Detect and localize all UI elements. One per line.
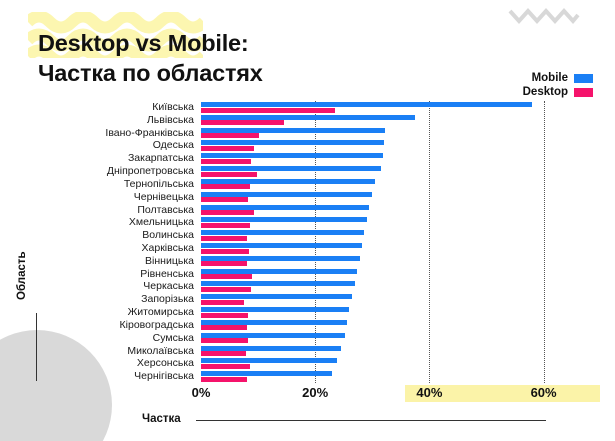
bar-mobile (201, 256, 360, 261)
bar-group (201, 165, 555, 178)
page-title: Desktop vs Mobile: Частка по областях (38, 28, 468, 88)
x-tick-label: 0% (192, 385, 211, 400)
bar-group (201, 139, 555, 152)
chart-page: Desktop vs Mobile: Частка по областях Mo… (0, 0, 615, 441)
bar-desktop (201, 108, 335, 113)
legend-item-mobile: Mobile (532, 72, 593, 84)
category-label: Тернопільська (60, 179, 194, 190)
category-label: Київська (60, 102, 194, 113)
bar-desktop (201, 223, 250, 228)
category-label: Чернігівська (60, 371, 194, 382)
category-label: Херсонська (60, 358, 194, 369)
category-label: Запорізька (60, 294, 194, 305)
category-label: Миколаївська (60, 346, 194, 357)
bar-group (201, 204, 555, 217)
bar-mobile (201, 346, 341, 351)
category-label: Черкаська (60, 281, 194, 292)
bar-group (201, 101, 555, 114)
bar-mobile (201, 281, 355, 286)
bar-group (201, 242, 555, 255)
chart-legend: Mobile Desktop (523, 72, 593, 98)
legend-swatch-mobile (574, 74, 593, 83)
bar-group (201, 332, 555, 345)
bar-mobile (201, 320, 347, 325)
bar-desktop (201, 146, 254, 151)
category-label: Харківська (60, 243, 194, 254)
category-label: Кіровоградська (60, 320, 194, 331)
bar-mobile (201, 179, 375, 184)
bar-desktop (201, 325, 247, 330)
bar-mobile (201, 153, 383, 158)
category-label: Одеська (60, 140, 194, 151)
bar-group (201, 127, 555, 140)
y-axis-line (36, 313, 37, 381)
x-axis-title: Частка (142, 413, 181, 425)
bar-mobile (201, 333, 345, 338)
gray-zigzag-decoration (508, 6, 580, 26)
bar-mobile (201, 192, 372, 197)
bar-group (201, 268, 555, 281)
legend-item-desktop: Desktop (523, 86, 593, 98)
bar-group (201, 255, 555, 268)
bar-mobile (201, 205, 369, 210)
legend-label-mobile: Mobile (532, 72, 568, 84)
category-label: Хмельницька (60, 217, 194, 228)
bar-group (201, 178, 555, 191)
bar-mobile (201, 102, 532, 107)
bar-mobile (201, 128, 385, 133)
bar-mobile (201, 140, 384, 145)
bar-group (201, 152, 555, 165)
bar-mobile (201, 230, 364, 235)
x-tick-label: 40% (416, 385, 442, 400)
bar-group (201, 191, 555, 204)
category-label: Полтавська (60, 205, 194, 216)
category-label: Закарпатська (60, 153, 194, 164)
legend-swatch-desktop (574, 88, 593, 97)
bar-group (201, 114, 555, 127)
bar-desktop (201, 133, 259, 138)
bar-mobile (201, 307, 349, 312)
bar-mobile (201, 371, 332, 376)
y-axis-title: Область (16, 251, 28, 300)
bar-desktop (201, 184, 250, 189)
category-label: Вінницька (60, 256, 194, 267)
bar-desktop (201, 377, 247, 382)
bar-group (201, 229, 555, 242)
x-axis-line (196, 420, 546, 421)
bar-desktop (201, 210, 254, 215)
bar-mobile (201, 294, 352, 299)
bar-mobile (201, 217, 367, 222)
chart-plot-area (201, 101, 555, 383)
bar-group (201, 280, 555, 293)
category-label: Львівська (60, 115, 194, 126)
bar-desktop (201, 287, 251, 292)
bar-desktop (201, 364, 250, 369)
category-label: Сумська (60, 333, 194, 344)
category-label: Дніпропетровська (60, 166, 194, 177)
x-tick-label: 60% (531, 385, 557, 400)
bar-group (201, 293, 555, 306)
bar-mobile (201, 358, 337, 363)
category-label: Рівненська (60, 269, 194, 280)
bar-group (201, 370, 555, 383)
bar-mobile (201, 115, 415, 120)
bar-desktop (201, 120, 284, 125)
bar-desktop (201, 249, 249, 254)
bar-group (201, 319, 555, 332)
bar-group (201, 216, 555, 229)
bar-mobile (201, 166, 381, 171)
x-tick-label: 20% (302, 385, 328, 400)
category-label: Волинська (60, 230, 194, 241)
bar-desktop (201, 172, 257, 177)
bar-group (201, 357, 555, 370)
category-label: Івано-Франківська (60, 128, 194, 139)
bar-desktop (201, 300, 244, 305)
bar-desktop (201, 197, 248, 202)
category-label: Чернівецька (60, 192, 194, 203)
category-axis-labels: КиївськаЛьвівськаІвано-ФранківськаОдеськ… (60, 101, 194, 383)
bar-desktop (201, 274, 252, 279)
legend-label-desktop: Desktop (523, 86, 568, 98)
bar-mobile (201, 243, 362, 248)
bar-desktop (201, 159, 251, 164)
bar-mobile (201, 269, 357, 274)
bar-desktop (201, 261, 247, 266)
bar-group (201, 345, 555, 358)
bar-desktop (201, 338, 248, 343)
bar-desktop (201, 236, 247, 241)
bar-desktop (201, 351, 246, 356)
bar-group (201, 306, 555, 319)
category-label: Житомирська (60, 307, 194, 318)
bar-desktop (201, 313, 248, 318)
